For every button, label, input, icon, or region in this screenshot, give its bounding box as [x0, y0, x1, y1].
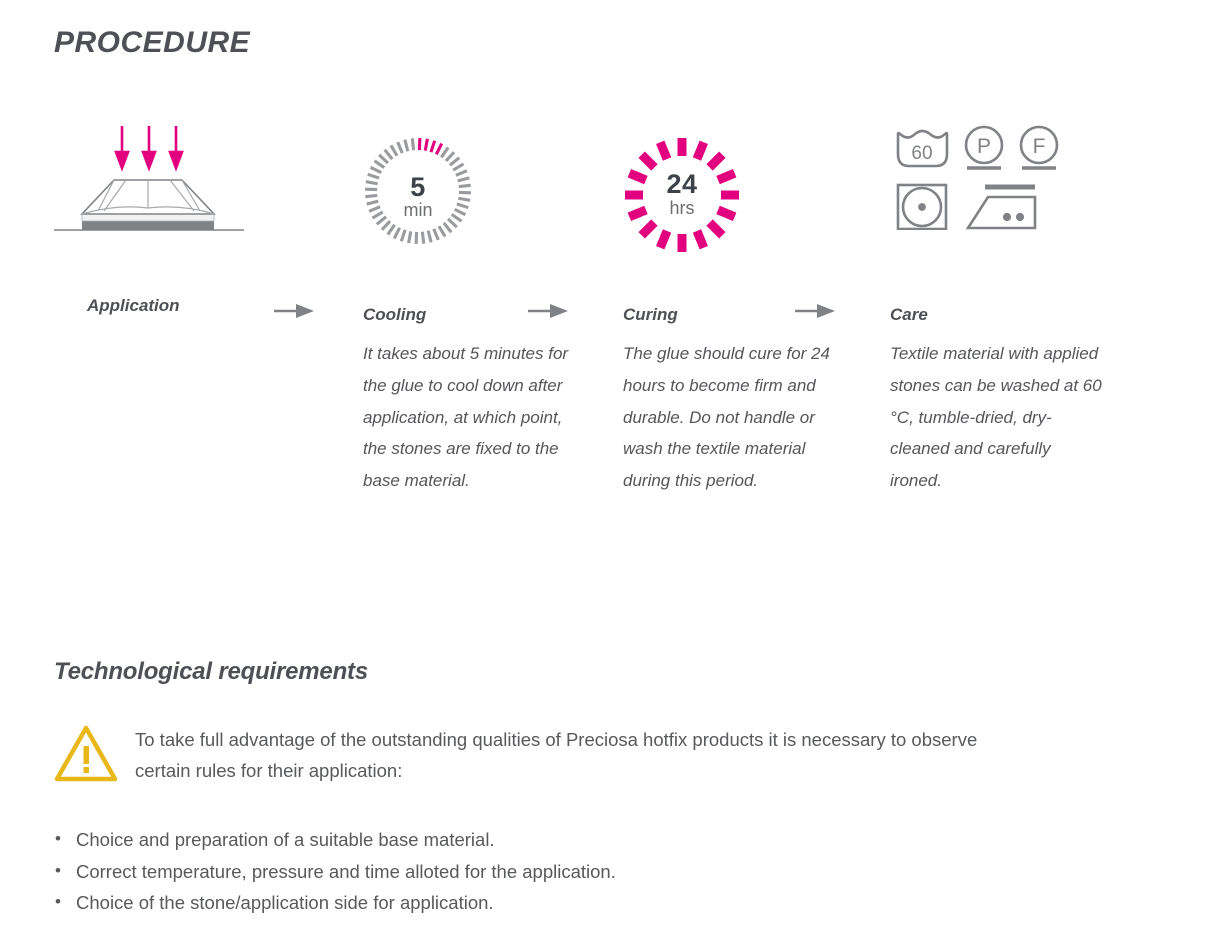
svg-text:60: 60: [911, 143, 932, 164]
page-title: PROCEDURE: [54, 26, 250, 60]
step-label-care: Care: [890, 305, 1120, 325]
requirements-notice: To take full advantage of the outstandin…: [54, 724, 1154, 786]
curing-timer-unit: hrs: [623, 198, 741, 219]
requirements-title: Technological requirements: [54, 658, 1154, 686]
curing-icon-wrapper: 24 hrs: [623, 110, 853, 270]
step-body-care: Textile material with applied stones can…: [890, 338, 1105, 497]
step-body-curing: The glue should cure for 24 hours to bec…: [623, 338, 838, 497]
cooling-icon-wrapper: 5 min: [363, 110, 593, 270]
care-icon-wrapper: 60 P F: [890, 110, 1120, 270]
flow-arrow-3-icon: [795, 303, 835, 319]
list-item: Correct temperature, pressure and time a…: [54, 856, 1154, 888]
cooling-timer-unit: min: [363, 200, 473, 221]
procedure-section: Application 5 min Cooling It takes about…: [0, 110, 1213, 580]
svg-text:P: P: [977, 135, 991, 158]
application-icon-wrapper: [54, 110, 264, 270]
svg-text:F: F: [1033, 135, 1046, 158]
procedure-step-application: Application: [54, 110, 264, 316]
care-symbols-icon: 60 P F: [892, 110, 1072, 230]
procedure-step-care: 60 P F: [890, 110, 1120, 497]
list-item: Choice and preparation of a suitable bas…: [54, 824, 1154, 856]
requirements-bullet-list: Choice and preparation of a suitable bas…: [54, 824, 1154, 919]
list-item: Choice of the stone/application side for…: [54, 887, 1154, 919]
sunburst-timer-icon: 24 hrs: [623, 136, 741, 254]
dry-clean-p-icon: P: [966, 127, 1002, 168]
iron-two-dots-icon: [968, 187, 1035, 228]
curing-timer-value: 24: [623, 169, 741, 200]
tumble-dry-icon: [898, 185, 946, 229]
warning-triangle-icon: [54, 724, 118, 782]
requirements-notice-text: To take full advantage of the outstandin…: [135, 724, 1015, 786]
requirements-section: Technological requirements To take full …: [54, 658, 1154, 935]
stone-application-icon: [54, 116, 254, 256]
dry-clean-f-icon: F: [1021, 127, 1057, 168]
step-body-cooling: It takes about 5 minutes for the glue to…: [363, 338, 578, 497]
step-label-application: Application: [87, 296, 264, 316]
flow-arrow-1-icon: [274, 303, 314, 319]
cooling-timer-value: 5: [363, 172, 473, 203]
flow-arrow-2-icon: [528, 303, 568, 319]
wash-tub-60-icon: 60: [898, 131, 947, 166]
timer-dial-icon: 5 min: [363, 136, 473, 246]
